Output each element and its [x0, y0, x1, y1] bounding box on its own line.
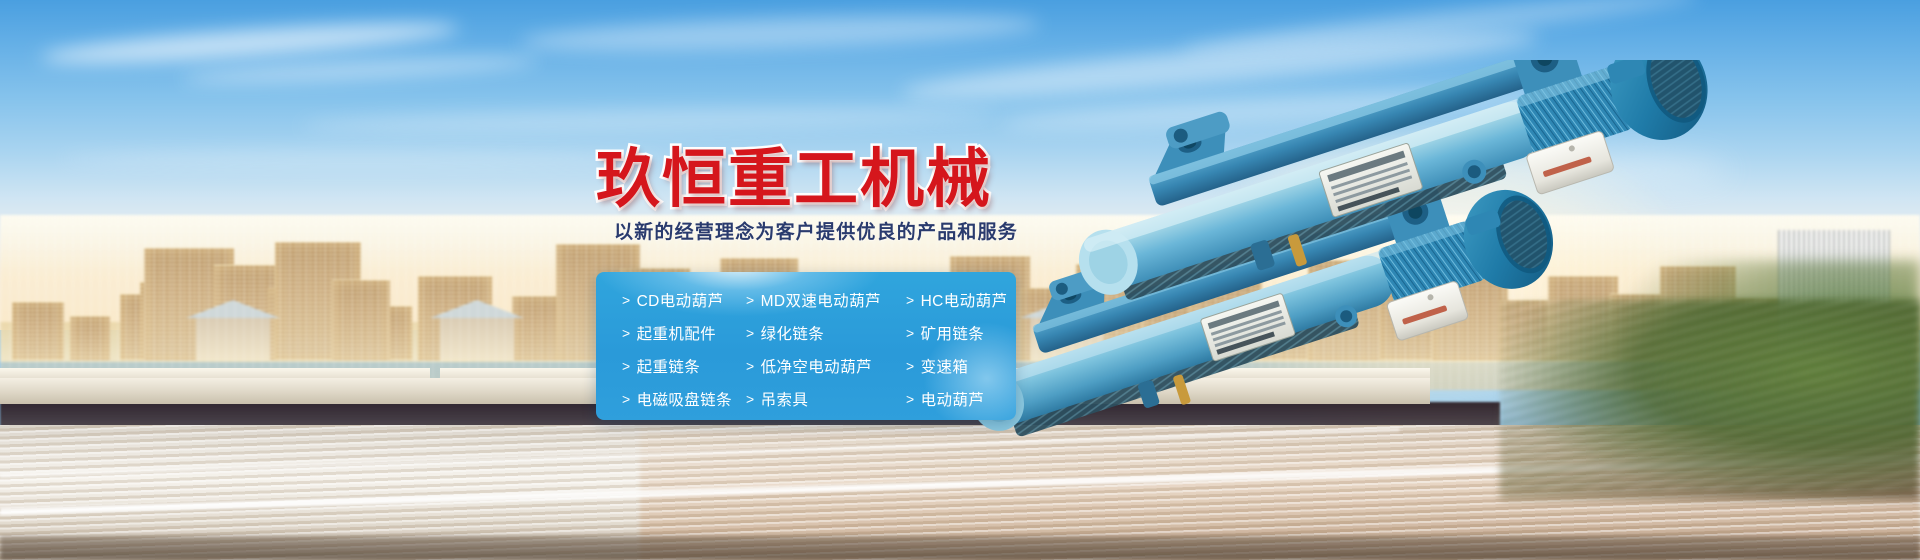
- product-link-mining-chain[interactable]: > 矿用链条: [906, 322, 1010, 344]
- chevron-right-icon: >: [622, 392, 631, 406]
- electric-hoist-product-image: [880, 60, 1900, 480]
- chevron-right-icon: >: [906, 392, 915, 406]
- hero-banner: 玖恒重工机械 以新的经营理念为客户提供优良的产品和服务 > CD电动葫芦 > M…: [0, 0, 1920, 560]
- product-link-label: 电磁吸盘链条: [637, 388, 732, 410]
- product-link-hc-electric-hoist[interactable]: > HC电动葫芦: [906, 289, 1010, 311]
- product-link-md-dual-speed-hoist[interactable]: > MD双速电动葫芦: [746, 289, 906, 311]
- page-title: 玖恒重工机械: [596, 128, 992, 220]
- product-link-label: 绿化链条: [761, 322, 825, 344]
- product-link-label: HC电动葫芦: [921, 289, 1008, 311]
- page-subtitle: 以新的经营理念为客户提供优良的产品和服务: [614, 217, 1018, 244]
- product-link-lifting-chain[interactable]: > 起重链条: [622, 355, 746, 377]
- chevron-right-icon: >: [746, 359, 755, 373]
- chevron-right-icon: >: [622, 359, 631, 373]
- product-link-label: 起重机配件: [637, 322, 717, 344]
- product-link-electric-hoist[interactable]: > 电动葫芦: [906, 388, 1010, 410]
- chevron-right-icon: >: [746, 326, 755, 340]
- product-link-label: 起重链条: [637, 355, 701, 377]
- product-link-label: 吊索具: [761, 388, 809, 410]
- chevron-right-icon: >: [906, 359, 915, 373]
- product-link-crane-parts[interactable]: > 起重机配件: [622, 322, 746, 344]
- chevron-right-icon: >: [622, 293, 631, 307]
- product-link-label: CD电动葫芦: [637, 289, 724, 311]
- product-links-panel: > CD电动葫芦 > MD双速电动葫芦 > HC电动葫芦 > 起重机配件 > 绿…: [596, 272, 1016, 420]
- product-link-gearbox[interactable]: > 变速箱: [906, 355, 1010, 377]
- chevron-right-icon: >: [906, 326, 915, 340]
- product-link-slings[interactable]: > 吊索具: [746, 388, 906, 410]
- chevron-right-icon: >: [746, 293, 755, 307]
- product-links-grid: > CD电动葫芦 > MD双速电动葫芦 > HC电动葫芦 > 起重机配件 > 绿…: [622, 283, 1010, 412]
- product-link-label: 电动葫芦: [921, 388, 985, 410]
- chevron-right-icon: >: [622, 326, 631, 340]
- chevron-right-icon: >: [746, 392, 755, 406]
- product-link-label: 矿用链条: [921, 322, 985, 344]
- road-edge-shadow: [0, 536, 1920, 560]
- product-link-label: 变速箱: [921, 355, 969, 377]
- chevron-right-icon: >: [906, 293, 915, 307]
- cloud-wisp: [180, 53, 540, 88]
- product-link-label: MD双速电动葫芦: [761, 289, 881, 311]
- product-link-cd-electric-hoist[interactable]: > CD电动葫芦: [622, 289, 746, 311]
- product-link-low-headroom-hoist[interactable]: > 低净空电动葫芦: [746, 355, 906, 377]
- product-link-greening-chain[interactable]: > 绿化链条: [746, 322, 906, 344]
- cloud-wisp: [520, 9, 1041, 57]
- product-link-magnetic-chuck-chain[interactable]: > 电磁吸盘链条: [622, 388, 746, 410]
- barrier-segment: [0, 368, 430, 378]
- cloud-wisp: [60, 150, 660, 168]
- product-link-label: 低净空电动葫芦: [761, 355, 872, 377]
